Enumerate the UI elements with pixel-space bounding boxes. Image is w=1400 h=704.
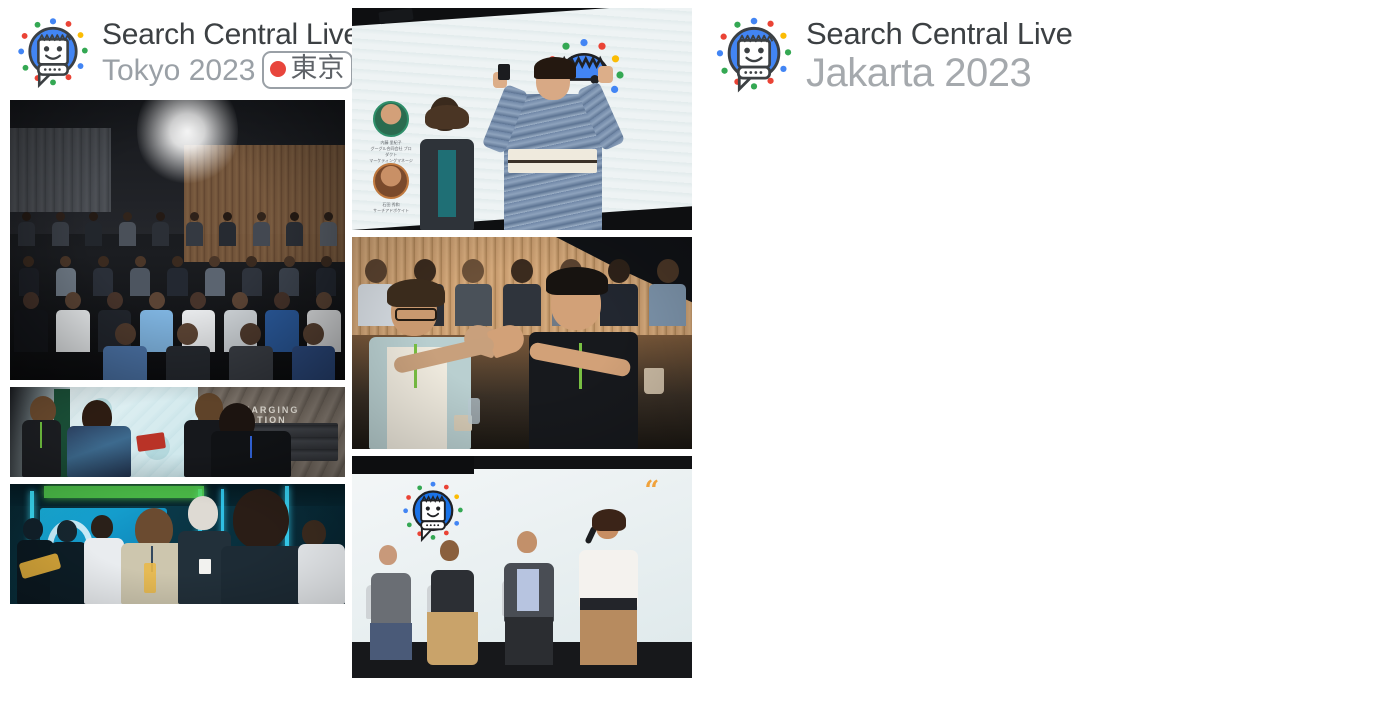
- tokyo-badge-label: 東京: [290, 53, 344, 85]
- quote-mark-icon: “: [644, 478, 659, 504]
- tokyo-title-line1: Search Central Live: [102, 19, 360, 51]
- jakarta-title-line1: Search Central Live: [806, 17, 1073, 50]
- tokyo-heart-hands-audience-photo[interactable]: [352, 237, 692, 449]
- tokyo-networking-drinks-photo[interactable]: [10, 484, 345, 604]
- tokyo-left-column: CHARGING STATION: [10, 100, 345, 604]
- tokyo-stage-yukata-speaker-photo[interactable]: 内藤 里紀子グーグル合同会社 プロダクトマーケティングマネージャー 石田 秀和サ…: [352, 8, 692, 230]
- collage-board: Search Central Live Tokyo 2023 東京: [0, 0, 1400, 704]
- jakarta-title-line2: Jakarta 2023: [806, 51, 1073, 95]
- tokyo-right-column: 内藤 里紀子グーグル合同会社 プロダクトマーケティングマネージャー 石田 秀和サ…: [352, 8, 692, 678]
- japan-flag-icon: [270, 61, 286, 77]
- japan-flag-badge: 東京: [262, 51, 353, 89]
- tokyo-panel-discussion-photo[interactable]: “: [352, 456, 692, 678]
- section-jakarta: Search Central Live Jakarta 2023: [700, 0, 1400, 704]
- jakarta-header: Search Central Live Jakarta 2023: [708, 8, 1073, 104]
- tokyo-charging-station-photo[interactable]: CHARGING STATION: [10, 387, 345, 477]
- section-tokyo: Search Central Live Tokyo 2023 東京: [0, 0, 700, 704]
- search-central-mascot-icon: [708, 10, 800, 102]
- tokyo-group-audience-photo[interactable]: [10, 100, 345, 380]
- tokyo-title-line2: Tokyo 2023: [102, 54, 255, 87]
- tokyo-header: Search Central Live Tokyo 2023 東京: [10, 6, 360, 102]
- search-central-mascot-icon: [10, 11, 96, 97]
